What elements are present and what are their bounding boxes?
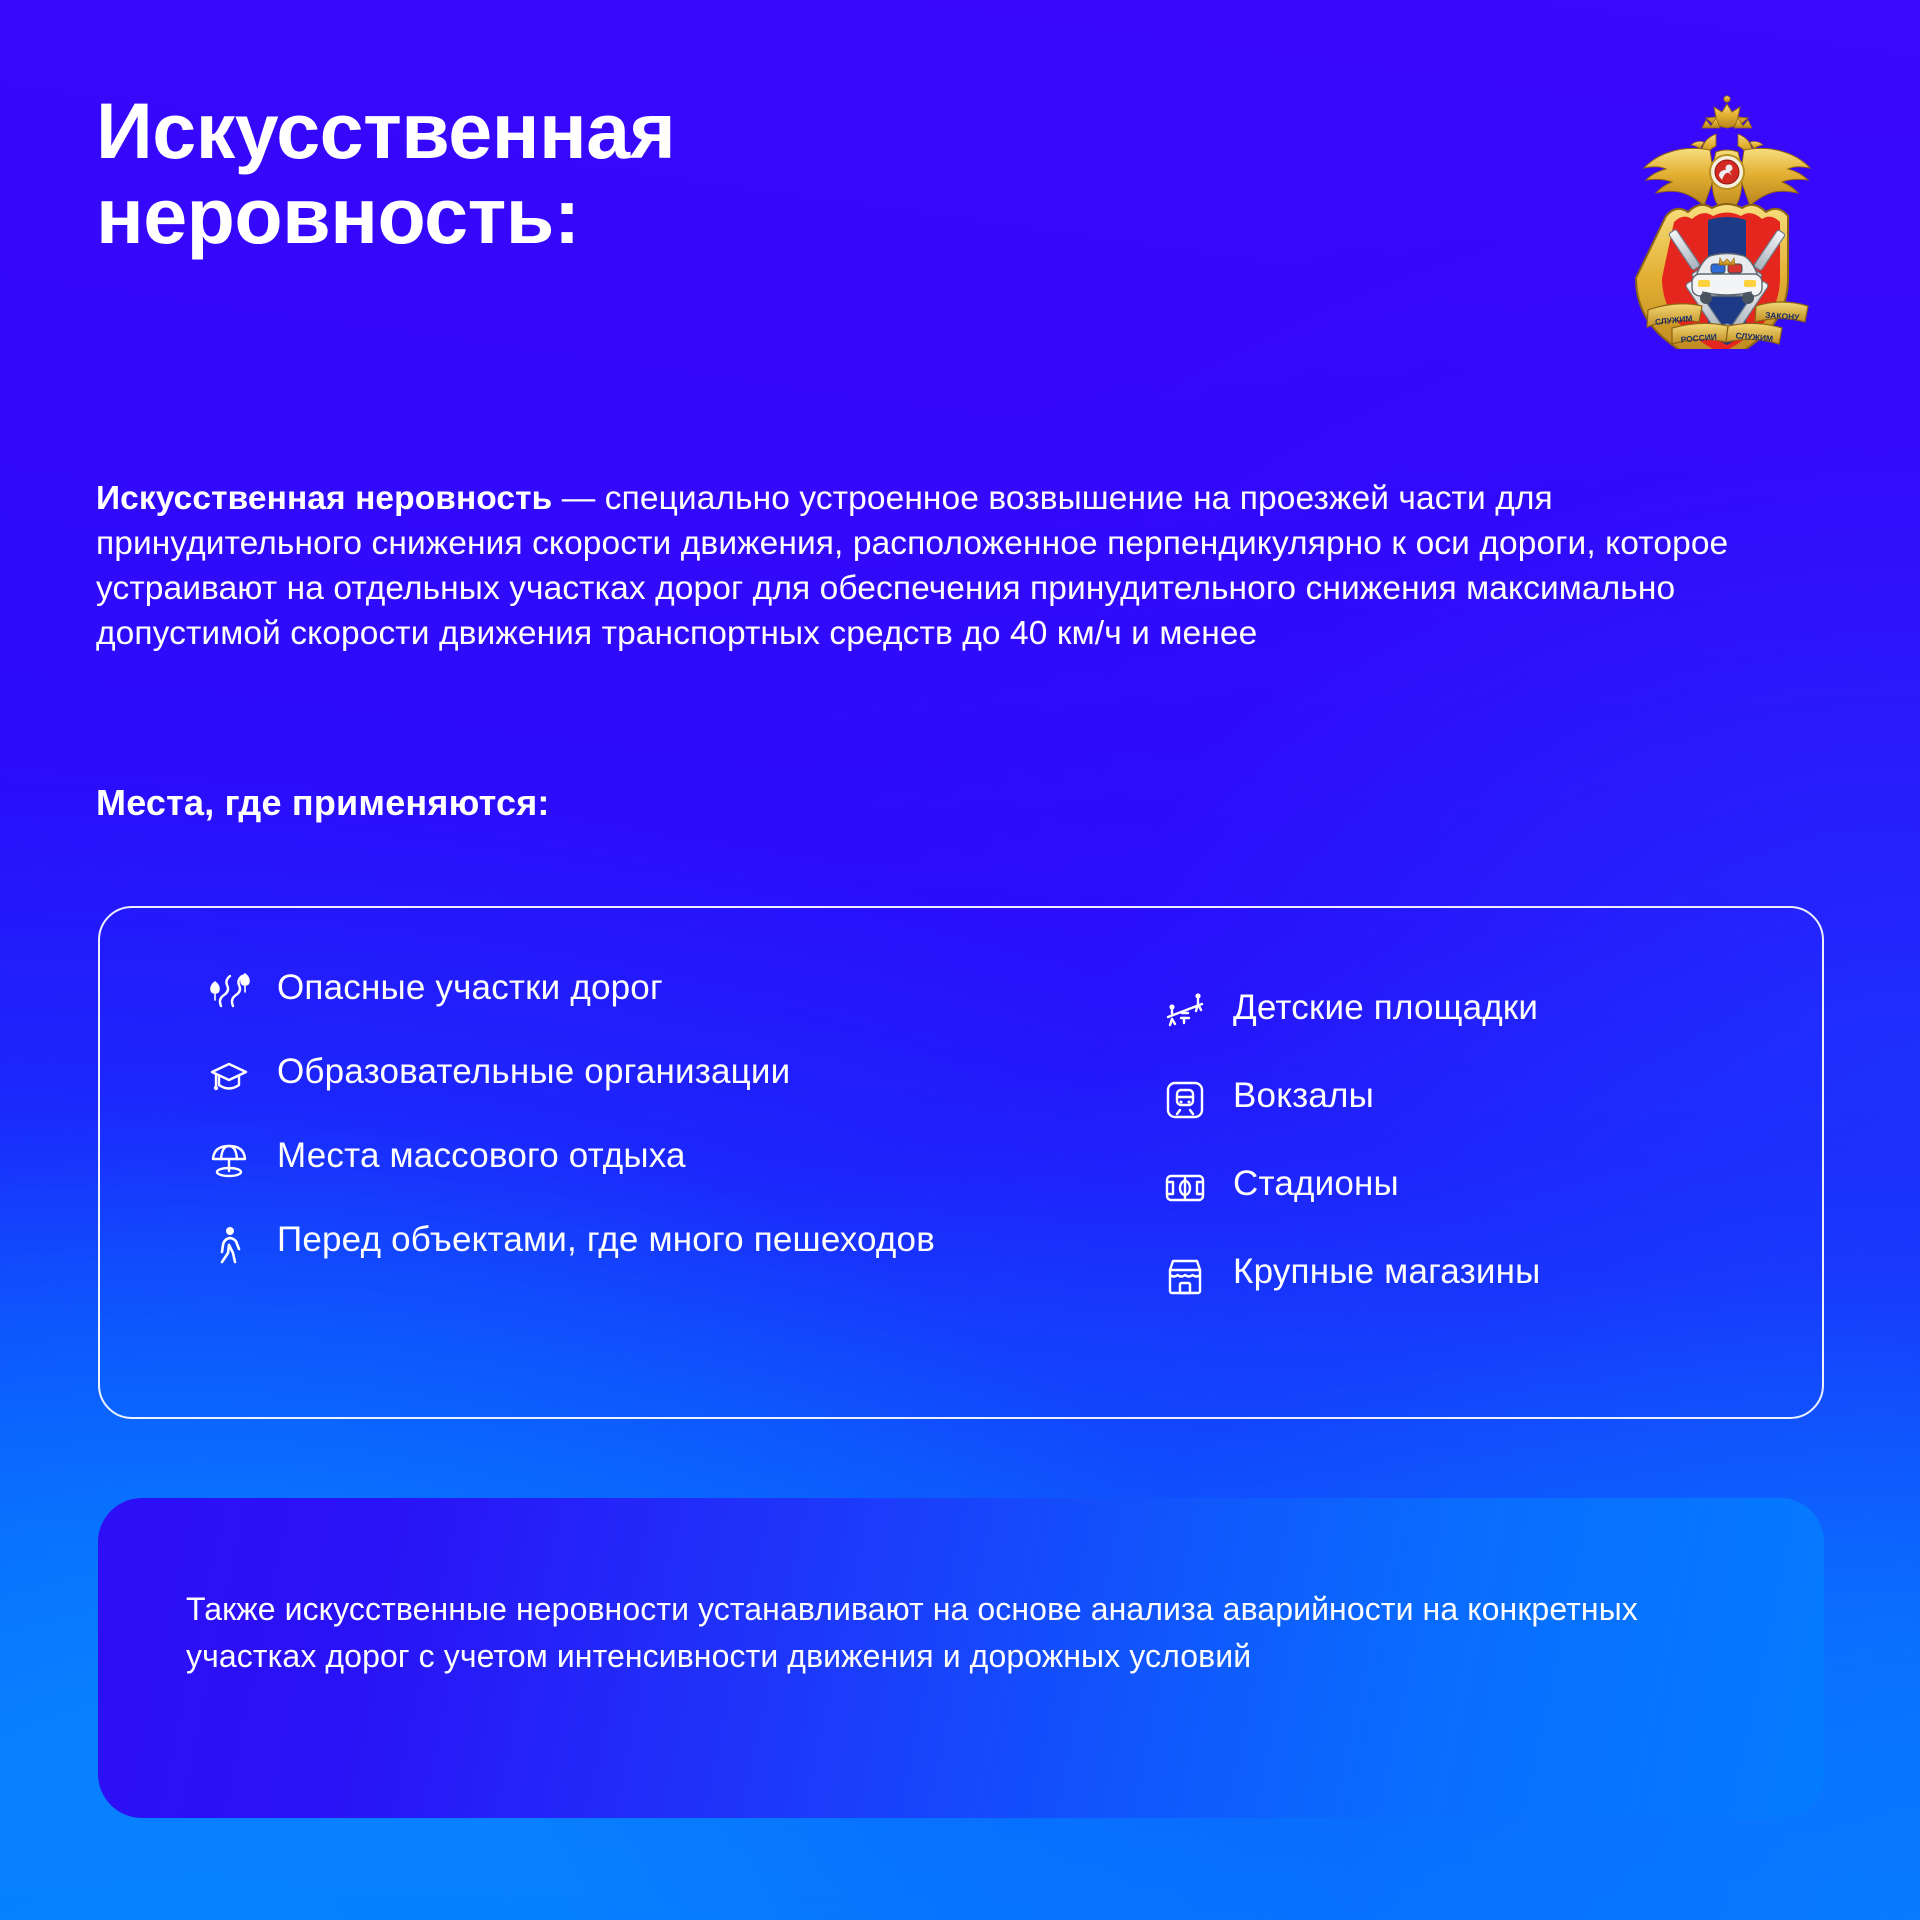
list-item: Места массового отдыха xyxy=(207,1134,1065,1182)
list-item: Вокзалы xyxy=(1163,1074,1826,1122)
beach-umbrella-icon xyxy=(207,1138,251,1182)
seesaw-icon xyxy=(1163,990,1207,1034)
gibdd-emblem: СЛУЖИМ ЗАКОНУ РОССИИ СЛУЖИМ xyxy=(1632,94,1822,349)
train-station-icon xyxy=(1163,1078,1207,1122)
winding-road-icon xyxy=(207,970,251,1014)
page-title: Искусственная неровность: xyxy=(96,88,996,259)
poster-root: Искусственная неровность: xyxy=(0,0,1920,1920)
list-item-label: Детские площадки xyxy=(1233,986,1538,1030)
header: Искусственная неровность: xyxy=(96,88,1824,338)
list-item: Детские площадки xyxy=(1163,986,1826,1034)
pedestrian-icon xyxy=(207,1222,251,1266)
places-card: Опасные участки дорог Образовательные ор… xyxy=(98,906,1824,1419)
list-item-label: Образовательные организации xyxy=(277,1050,790,1094)
storefront-icon xyxy=(1163,1254,1207,1298)
list-item-label: Стадионы xyxy=(1233,1162,1399,1206)
graduation-cap-icon xyxy=(207,1054,251,1098)
places-subheading: Места, где применяются: xyxy=(96,782,550,824)
footnote-box: Также искусственные неровности устанавли… xyxy=(98,1498,1824,1818)
list-item: Крупные магазины xyxy=(1163,1250,1826,1298)
list-item: Перед объектами, где много пешеходов xyxy=(207,1218,1065,1266)
list-item-label: Вокзалы xyxy=(1233,1074,1374,1118)
definition-term: Искусственная неровность xyxy=(96,480,552,517)
list-item: Стадионы xyxy=(1163,1162,1826,1210)
stadium-pitch-icon xyxy=(1163,1166,1207,1210)
places-column-right: Детские площадки Вокзалы xyxy=(1065,908,1826,1417)
places-column-left: Опасные участки дорог Образовательные ор… xyxy=(100,908,1065,1417)
list-item-label: Места массового отдыха xyxy=(277,1134,686,1178)
list-item-label: Крупные магазины xyxy=(1233,1250,1540,1294)
list-item: Образовательные организации xyxy=(207,1050,1065,1098)
footnote-text: Также искусственные неровности устанавли… xyxy=(186,1586,1656,1680)
definition-paragraph: Искусственная неровность — специально ус… xyxy=(96,476,1826,656)
list-item-label: Перед объектами, где много пешеходов xyxy=(277,1218,935,1262)
list-item: Опасные участки дорог xyxy=(207,966,1065,1014)
list-item-label: Опасные участки дорог xyxy=(277,966,663,1010)
